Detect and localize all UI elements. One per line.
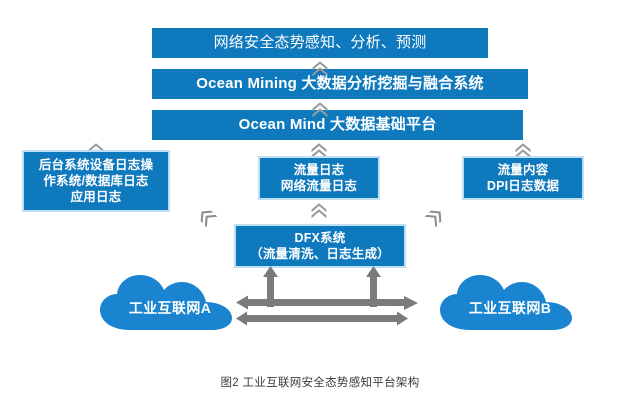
- double-chevron-up-icon: [309, 99, 331, 121]
- layer-bar-situational-awareness: 网络安全态势感知、分析、预测: [152, 28, 488, 58]
- source-box-text: 后台系统设备日志操 作系统/数据库日志 应用日志: [33, 157, 159, 205]
- dfx-system-line: DFX系统: [250, 230, 390, 246]
- layer-bar-ocean-mining: Ocean Mining 大数据分析挖掘与融合系统: [152, 69, 528, 99]
- source-box-line: 应用日志: [39, 189, 153, 205]
- source-box-line: 流量内容: [487, 162, 559, 178]
- double-headed-arrow-upper: [236, 296, 408, 310]
- cloud-shape-icon: [438, 272, 582, 332]
- figure-caption: 图2 工业互联网安全态势感知平台架构: [0, 374, 640, 390]
- cloud-shape-icon: [98, 272, 242, 332]
- arrow-head-right-upper: [404, 295, 418, 311]
- source-box-line: 网络流量日志: [281, 178, 357, 194]
- source-box-text: 流量日志 网络流量日志: [275, 162, 363, 194]
- cloud-industrial-internet-b: 工业互联网B: [438, 272, 582, 332]
- layer-bar-label: 网络安全态势感知、分析、预测: [214, 33, 427, 52]
- source-box-line: 流量日志: [281, 162, 357, 178]
- layer-bar-label: Ocean Mind 大数据基础平台: [239, 115, 437, 134]
- layer-bar-label: Ocean Mining 大数据分析挖掘与融合系统: [196, 74, 484, 93]
- cloud-industrial-internet-a: 工业互联网A: [98, 272, 242, 332]
- double-chevron-up-icon: [309, 58, 331, 80]
- dfx-system-text: DFX系统 （流量清洗、日志生成）: [244, 230, 396, 262]
- double-chevron-up-left-icon: [191, 201, 222, 232]
- network-arrows: [236, 266, 408, 330]
- dfx-system-line: （流量清洗、日志生成）: [250, 246, 390, 262]
- source-box-flow-logs: 流量日志 网络流量日志: [258, 156, 380, 200]
- source-box-line: 后台系统设备日志操: [39, 157, 153, 173]
- source-box-backend-logs: 后台系统设备日志操 作系统/数据库日志 应用日志: [22, 150, 170, 212]
- figure-canvas: 网络安全态势感知、分析、预测 Ocean Mining 大数据分析挖掘与融合系统…: [0, 0, 640, 405]
- source-box-dpi-content: 流量内容 DPI日志数据: [462, 156, 584, 200]
- double-headed-arrow-lower: [236, 312, 408, 326]
- source-box-line: DPI日志数据: [487, 178, 559, 194]
- double-chevron-up-icon: [308, 200, 330, 222]
- layer-bar-ocean-mind: Ocean Mind 大数据基础平台: [152, 110, 523, 140]
- double-chevron-up-right-icon: [419, 201, 450, 232]
- source-box-text: 流量内容 DPI日志数据: [481, 162, 565, 194]
- source-box-line: 作系统/数据库日志: [39, 173, 153, 189]
- dfx-system-box: DFX系统 （流量清洗、日志生成）: [234, 224, 406, 268]
